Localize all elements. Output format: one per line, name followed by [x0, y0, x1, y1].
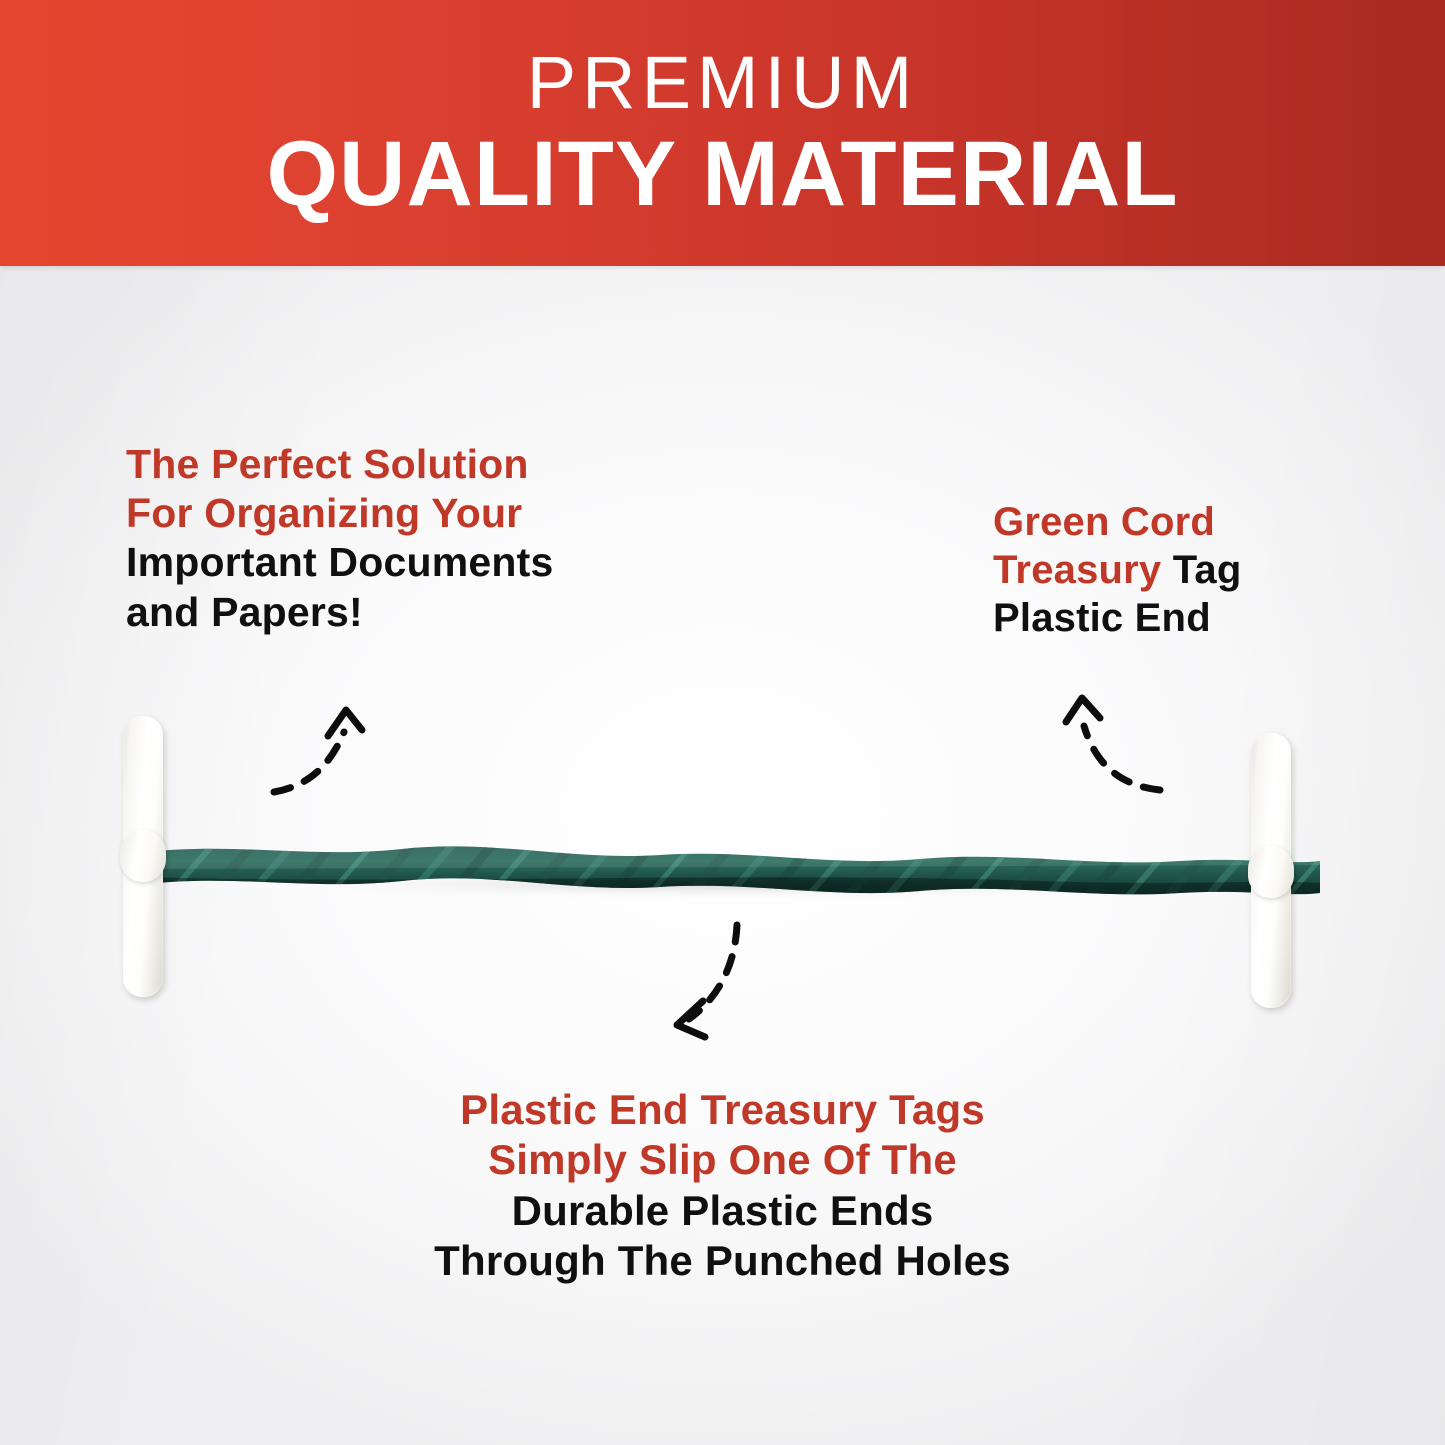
callout-left-dark-line-1: Important Documents — [126, 538, 554, 587]
callout-right-dark-inline: Tag — [1161, 548, 1241, 592]
callout-left-dark-line-2: and Papers! — [126, 588, 554, 637]
callout-right-dark-line-2: Plastic End — [993, 594, 1241, 642]
callout-right-red-inline: Treasury — [993, 548, 1161, 592]
header-banner-text-group: PREMIUM QUALITY MATERIAL — [0, 0, 1445, 266]
callout-right: Green Cord Treasury Tag Plastic End — [993, 498, 1241, 642]
callout-bottom-red-line-2: Simply Slip One Of The — [0, 1135, 1445, 1185]
callout-left-red-line-2: For Organizing Your — [126, 489, 554, 538]
callout-bottom: Plastic End Treasury Tags Simply Slip On… — [0, 1085, 1445, 1287]
callout-left-red-line-1: The Perfect Solution — [126, 440, 554, 489]
header-banner: PREMIUM QUALITY MATERIAL — [0, 0, 1445, 266]
callout-bottom-dark-line-2: Through The Punched Holes — [0, 1236, 1445, 1286]
callout-bottom-dark-line-1: Durable Plastic Ends — [0, 1186, 1445, 1236]
callout-right-mixed-line: Treasury Tag — [993, 546, 1241, 594]
callout-bottom-red-line-1: Plastic End Treasury Tags — [0, 1085, 1445, 1135]
header-title-secondary: QUALITY MATERIAL — [266, 128, 1178, 220]
header-title-primary: PREMIUM — [527, 46, 918, 120]
infographic-page: PREMIUM QUALITY MATERIAL — [0, 0, 1445, 1445]
callout-left: The Perfect Solution For Organizing Your… — [126, 440, 554, 637]
callout-right-red-line-1: Green Cord — [993, 498, 1241, 546]
